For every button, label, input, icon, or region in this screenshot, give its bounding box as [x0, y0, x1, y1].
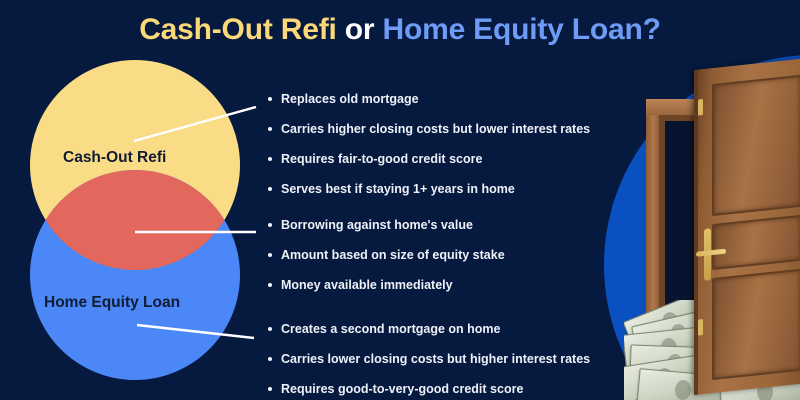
money-pile — [624, 300, 800, 400]
door-hinge — [698, 319, 703, 336]
list-item-label: Requires fair-to-good credit score — [281, 152, 482, 166]
infographic-canvas: Cash-Out Refi or Home Equity Loan? Cash-… — [0, 0, 800, 400]
list-item-label: Serves best if staying 1+ years in home — [281, 182, 515, 196]
title-part-or: or — [337, 13, 383, 46]
list-item: Creates a second mortgage on home — [268, 322, 590, 336]
door-panel-top — [712, 75, 800, 216]
door-handle-icon — [696, 249, 726, 257]
door-frame — [646, 99, 792, 387]
bullet-dot-icon — [268, 223, 272, 227]
dollar-bill — [624, 325, 716, 370]
connector-line-bottom — [137, 325, 254, 338]
list-item-label: Creates a second mortgage on home — [281, 322, 501, 336]
list-item-label: Carries lower closing costs but higher i… — [281, 352, 590, 366]
bullet-group-home-equity-loan: Creates a second mortgage on home Carrie… — [268, 322, 590, 400]
dollar-bill — [637, 368, 730, 400]
bullet-group-shared: Borrowing against home's value Amount ba… — [268, 218, 505, 308]
door-frame-left — [646, 99, 659, 387]
bullet-dot-icon — [268, 187, 272, 191]
dollar-bill — [631, 306, 727, 361]
doorway-opening — [659, 115, 779, 387]
connector-lines — [0, 0, 290, 400]
door-panel-bottom — [712, 269, 800, 380]
list-item-label: Borrowing against home's value — [281, 218, 473, 232]
list-item-label: Amount based on size of equity stake — [281, 248, 505, 262]
door-frame-jamb — [659, 115, 665, 387]
door-handle-plate — [704, 228, 711, 281]
venn-diagram: Cash-Out Refi Home Equity Loan — [0, 0, 290, 400]
bullet-dot-icon — [268, 387, 272, 391]
bullet-dot-icon — [268, 127, 272, 131]
bullet-group-cash-out-refi: Replaces old mortgage Carries higher clo… — [268, 92, 590, 212]
bullet-dot-icon — [268, 283, 272, 287]
list-item-label: Money available immediately — [281, 278, 453, 292]
door-frame-top — [646, 99, 792, 115]
door-panel-middle — [712, 215, 800, 270]
list-item-label: Requires good-to-very-good credit score — [281, 382, 523, 396]
door-frame-inner-top — [659, 115, 779, 121]
list-item: Replaces old mortgage — [268, 92, 590, 106]
dollar-bill — [629, 344, 720, 383]
list-item: Requires fair-to-good credit score — [268, 152, 590, 166]
bullet-dot-icon — [268, 97, 272, 101]
bullet-dot-icon — [268, 357, 272, 361]
list-item: Borrowing against home's value — [268, 218, 505, 232]
bullet-dot-icon — [268, 327, 272, 331]
list-item: Carries lower closing costs but higher i… — [268, 352, 590, 366]
title-part-question-mark: ? — [643, 13, 661, 46]
list-item: Requires good-to-very-good credit score — [268, 382, 590, 396]
bullet-dot-icon — [268, 157, 272, 161]
list-item: Money available immediately — [268, 278, 505, 292]
list-item: Serves best if staying 1+ years in home — [268, 182, 590, 196]
list-item-label: Replaces old mortgage — [281, 92, 419, 106]
blue-circle-backdrop — [604, 55, 800, 400]
list-item: Carries higher closing costs but lower i… — [268, 122, 590, 136]
title-part-home-equity-loan: Home Equity Loan — [383, 13, 643, 46]
bullet-dot-icon — [268, 253, 272, 257]
door-slab — [694, 57, 800, 395]
door-frame-right — [779, 99, 792, 387]
connector-line-top — [134, 107, 256, 141]
door-hinge — [698, 99, 703, 116]
dollar-bill — [624, 353, 712, 400]
dollar-bill — [719, 371, 800, 400]
dollar-bill — [624, 300, 719, 356]
list-item: Amount based on size of equity stake — [268, 248, 505, 262]
list-item-label: Carries higher closing costs but lower i… — [281, 122, 590, 136]
